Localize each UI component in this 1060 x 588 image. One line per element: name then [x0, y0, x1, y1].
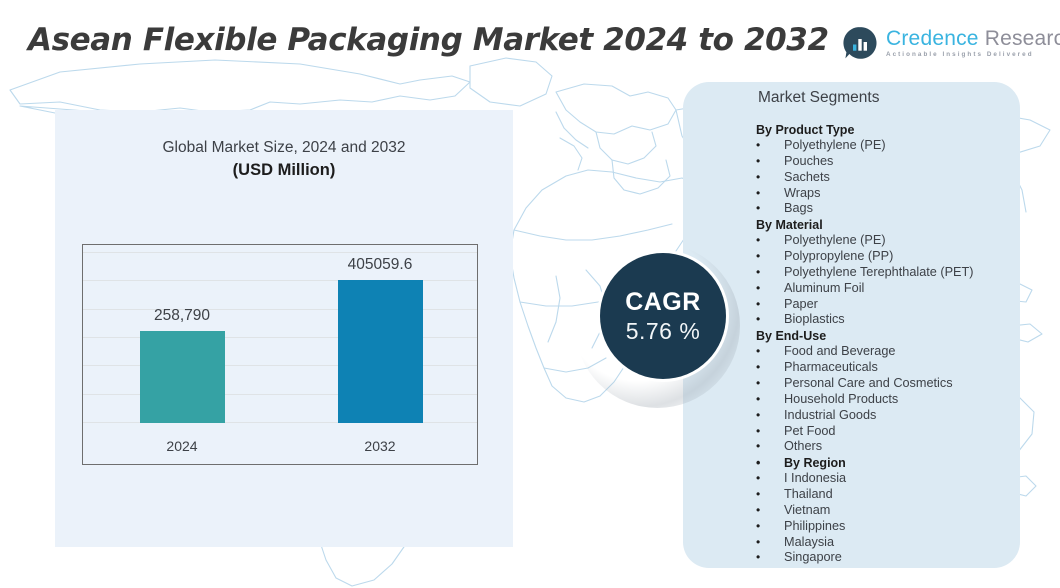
logo-name: Credence Research [886, 28, 1060, 49]
bullet-icon: • [756, 312, 784, 328]
segment-list-item: •Thailand [756, 487, 1056, 503]
segment-item-label: Aluminum Foil [784, 281, 1056, 297]
chart-title-block: Global Market Size, 2024 and 2032 (USD M… [55, 138, 513, 182]
segment-item-label: Pet Food [784, 424, 1056, 440]
segment-list-item: •Sachets [756, 170, 1056, 186]
segment-item-label: Pouches [784, 154, 1056, 170]
chart-value-label: 258,790 [92, 307, 272, 325]
bullet-icon: • [756, 471, 784, 487]
segment-list-item: •Wraps [756, 186, 1056, 202]
segment-item-label: Thailand [784, 487, 1056, 503]
segment-list-item: •Pet Food [756, 424, 1056, 440]
chart-title: Global Market Size, 2024 and 2032 [55, 138, 513, 158]
bullet-icon: • [756, 297, 784, 313]
segment-list-item: •Pouches [756, 154, 1056, 170]
bullet-icon: • [756, 360, 784, 376]
segment-item-label: Polyethylene (PE) [784, 233, 1056, 249]
segment-list-item: •Vietnam [756, 503, 1056, 519]
segment-list-item: •Pharmaceuticals [756, 360, 1056, 376]
segment-item-label: Personal Care and Cosmetics [784, 376, 1056, 392]
segment-list-item: •Polyethylene Terephthalate (PET) [756, 265, 1056, 281]
segment-item-label: Bags [784, 201, 1056, 217]
segment-item-label: Polypropylene (PP) [784, 249, 1056, 265]
cagr-label: CAGR [625, 287, 701, 317]
bullet-icon: • [756, 455, 784, 471]
bullet-icon: • [756, 233, 784, 249]
chart-value-label: 405059.6 [290, 256, 470, 274]
bullet-icon: • [756, 424, 784, 440]
segment-list-item: •Malaysia [756, 535, 1056, 551]
bullet-icon: • [756, 201, 784, 217]
bullet-icon: • [756, 154, 784, 170]
segment-item-label: Pharmaceuticals [784, 360, 1056, 376]
bullet-icon: • [756, 344, 784, 360]
segment-item-label: Industrial Goods [784, 408, 1056, 424]
segment-list-item: •Household Products [756, 392, 1056, 408]
logo-name-part2: Research [985, 27, 1060, 50]
segment-item-label: Philippines [784, 519, 1056, 535]
segment-list-item: •Philippines [756, 519, 1056, 535]
segment-item-label: Others [784, 439, 1056, 455]
cagr-badge: CAGR 5.76 % [600, 253, 726, 379]
bullet-icon: • [756, 408, 784, 424]
bullet-icon: • [756, 265, 784, 281]
chart-bar [140, 331, 225, 423]
segment-list-item: •Bags [756, 201, 1056, 217]
bullet-icon: • [756, 519, 784, 535]
segment-list-item: •Paper [756, 297, 1056, 313]
logo-name-part1: Credence [886, 27, 979, 50]
segment-list-item: •Polyethylene (PE) [756, 138, 1056, 154]
bullet-icon: • [756, 550, 784, 566]
segment-item-label: Vietnam [784, 503, 1056, 519]
segment-group-title: By Product Type [756, 122, 1056, 138]
bullet-icon: • [756, 281, 784, 297]
segment-list-item: •Others [756, 439, 1056, 455]
infographic-root: Asean Flexible Packaging Market 2024 to … [0, 0, 1060, 588]
segment-item-label: Bioplastics [784, 312, 1056, 328]
bar-chart-plot: 258,7902024405059.62032 [82, 244, 478, 465]
segments-list: By Product Type•Polyethylene (PE)•Pouche… [756, 122, 1056, 566]
bullet-icon: • [756, 487, 784, 503]
segments-heading: Market Segments [758, 89, 879, 107]
segment-list-item: •I Indonesia [756, 471, 1056, 487]
segment-list-item: •Aluminum Foil [756, 281, 1056, 297]
segment-list-item: •Food and Beverage [756, 344, 1056, 360]
segment-item-label: Sachets [784, 170, 1056, 186]
segment-group-title: By Material [756, 217, 1056, 233]
bullet-icon: • [756, 170, 784, 186]
bullet-icon: • [756, 439, 784, 455]
bullet-icon: • [756, 376, 784, 392]
segment-list-item: •Bioplastics [756, 312, 1056, 328]
segment-item-label: Food and Beverage [784, 344, 1056, 360]
chart-subtitle: (USD Million) [55, 158, 513, 182]
bullet-icon: • [756, 138, 784, 154]
bullet-icon: • [756, 535, 784, 551]
chart-category-label: 2032 [320, 438, 440, 454]
bullet-icon: • [756, 249, 784, 265]
segment-list-item: •Singapore [756, 550, 1056, 566]
segment-item-label: Household Products [784, 392, 1056, 408]
segment-list-item: •Personal Care and Cosmetics [756, 376, 1056, 392]
cagr-value: 5.76 % [626, 317, 701, 346]
logo-text: Credence Research Actionable Insights De… [886, 28, 1060, 58]
logo-tagline: Actionable Insights Delivered [886, 52, 1060, 58]
segment-group-title: By End-Use [756, 328, 1056, 344]
segment-item-label: Wraps [784, 186, 1056, 202]
segment-item-label: Malaysia [784, 535, 1056, 551]
segment-list-item: •Polyethylene (PE) [756, 233, 1056, 249]
segment-item-label: Singapore [784, 550, 1056, 566]
segment-group-title-text: By Region [784, 455, 846, 471]
segment-group-title: •By Region [756, 455, 1056, 471]
brand-logo: Credence Research Actionable Insights De… [843, 26, 1060, 60]
segment-item-label: Polyethylene (PE) [784, 138, 1056, 154]
chart-gridline [83, 252, 477, 253]
chart-category-label: 2024 [122, 438, 242, 454]
bullet-icon: • [756, 392, 784, 408]
segment-item-label: Polyethylene Terephthalate (PET) [784, 265, 1056, 281]
chart-bar [338, 280, 423, 423]
page-title: Asean Flexible Packaging Market 2024 to … [28, 22, 829, 58]
bullet-icon: • [756, 503, 784, 519]
bar-chart-bubble-icon [843, 26, 877, 60]
bullet-icon: • [756, 186, 784, 202]
segment-item-label: I Indonesia [784, 471, 1056, 487]
segment-list-item: •Industrial Goods [756, 408, 1056, 424]
segment-item-label: Paper [784, 297, 1056, 313]
segment-list-item: •Polypropylene (PP) [756, 249, 1056, 265]
